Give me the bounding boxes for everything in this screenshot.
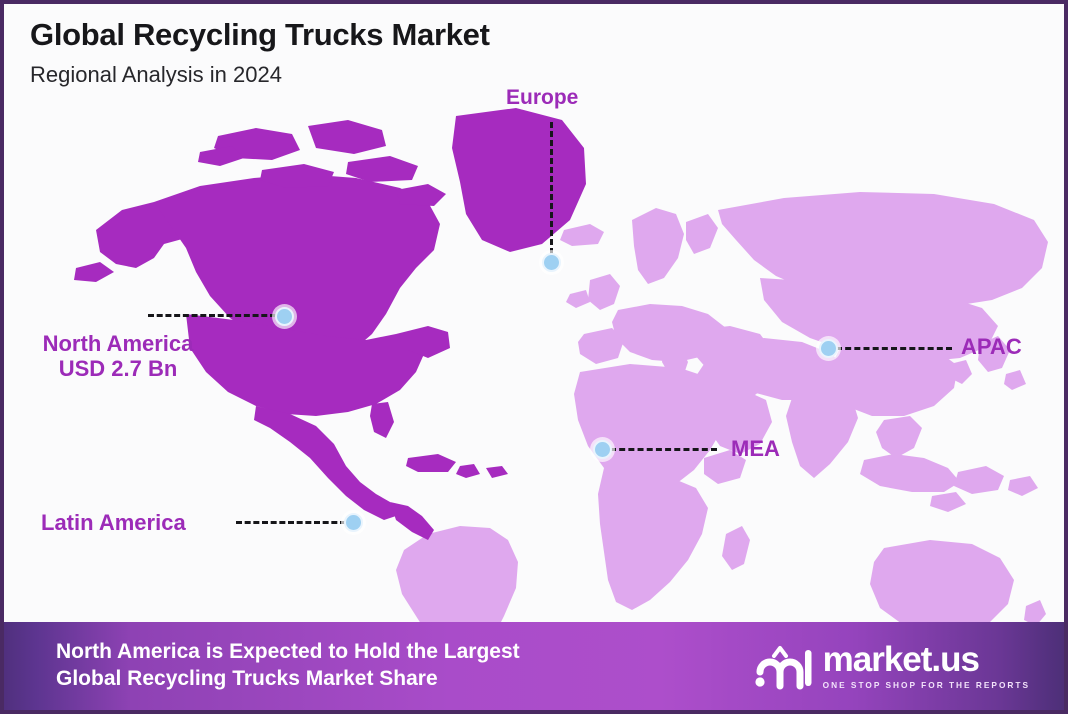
- leader-line-europe: [550, 122, 553, 254]
- map-marker-mea[interactable]: [593, 440, 612, 459]
- region-label-north-america: North America USD 2.7 Bn: [22, 331, 214, 382]
- logo-wordmark: market.us: [823, 642, 1030, 677]
- page-title: Global Recycling Trucks Market: [30, 18, 490, 52]
- footer-banner: North America is Expected to Hold the La…: [4, 622, 1064, 710]
- map-marker-north-america[interactable]: [275, 307, 294, 326]
- region-label-apac: APAC: [961, 334, 1022, 359]
- leader-line-apac: [836, 347, 952, 350]
- map-marker-apac[interactable]: [819, 339, 838, 358]
- map-region-base: [396, 192, 1048, 630]
- leader-line-north-america: [148, 314, 276, 317]
- banner-headline: North America is Expected to Hold the La…: [56, 639, 520, 693]
- header: Global Recycling Trucks Market Regional …: [30, 18, 490, 87]
- market-us-logo-mark-icon: [750, 642, 812, 690]
- map-marker-latin-america[interactable]: [344, 513, 363, 532]
- region-label-north-america-value: USD 2.7 Bn: [22, 356, 214, 381]
- logo-tagline: ONE STOP SHOP FOR THE REPORTS: [823, 681, 1030, 689]
- region-label-europe: Europe: [506, 86, 578, 110]
- banner-headline-line2: Global Recycling Trucks Market Share: [56, 666, 520, 693]
- leader-line-mea: [610, 448, 717, 451]
- infographic-root: Global Recycling Trucks Market Regional …: [0, 0, 1068, 714]
- brand-logo[interactable]: market.us ONE STOP SHOP FOR THE REPORTS: [750, 642, 1030, 690]
- region-label-latin-america: Latin America: [41, 510, 186, 535]
- logo-type: market.us ONE STOP SHOP FOR THE REPORTS: [823, 642, 1030, 689]
- page-subtitle: Regional Analysis in 2024: [30, 63, 490, 87]
- leader-line-latin-america: [236, 521, 346, 524]
- region-label-mea: MEA: [731, 436, 780, 461]
- region-label-north-america-name: North America: [22, 331, 214, 356]
- banner-headline-line1: North America is Expected to Hold the La…: [56, 639, 520, 666]
- map-region-north-america-highlight: [74, 108, 586, 540]
- map-marker-europe[interactable]: [542, 253, 561, 272]
